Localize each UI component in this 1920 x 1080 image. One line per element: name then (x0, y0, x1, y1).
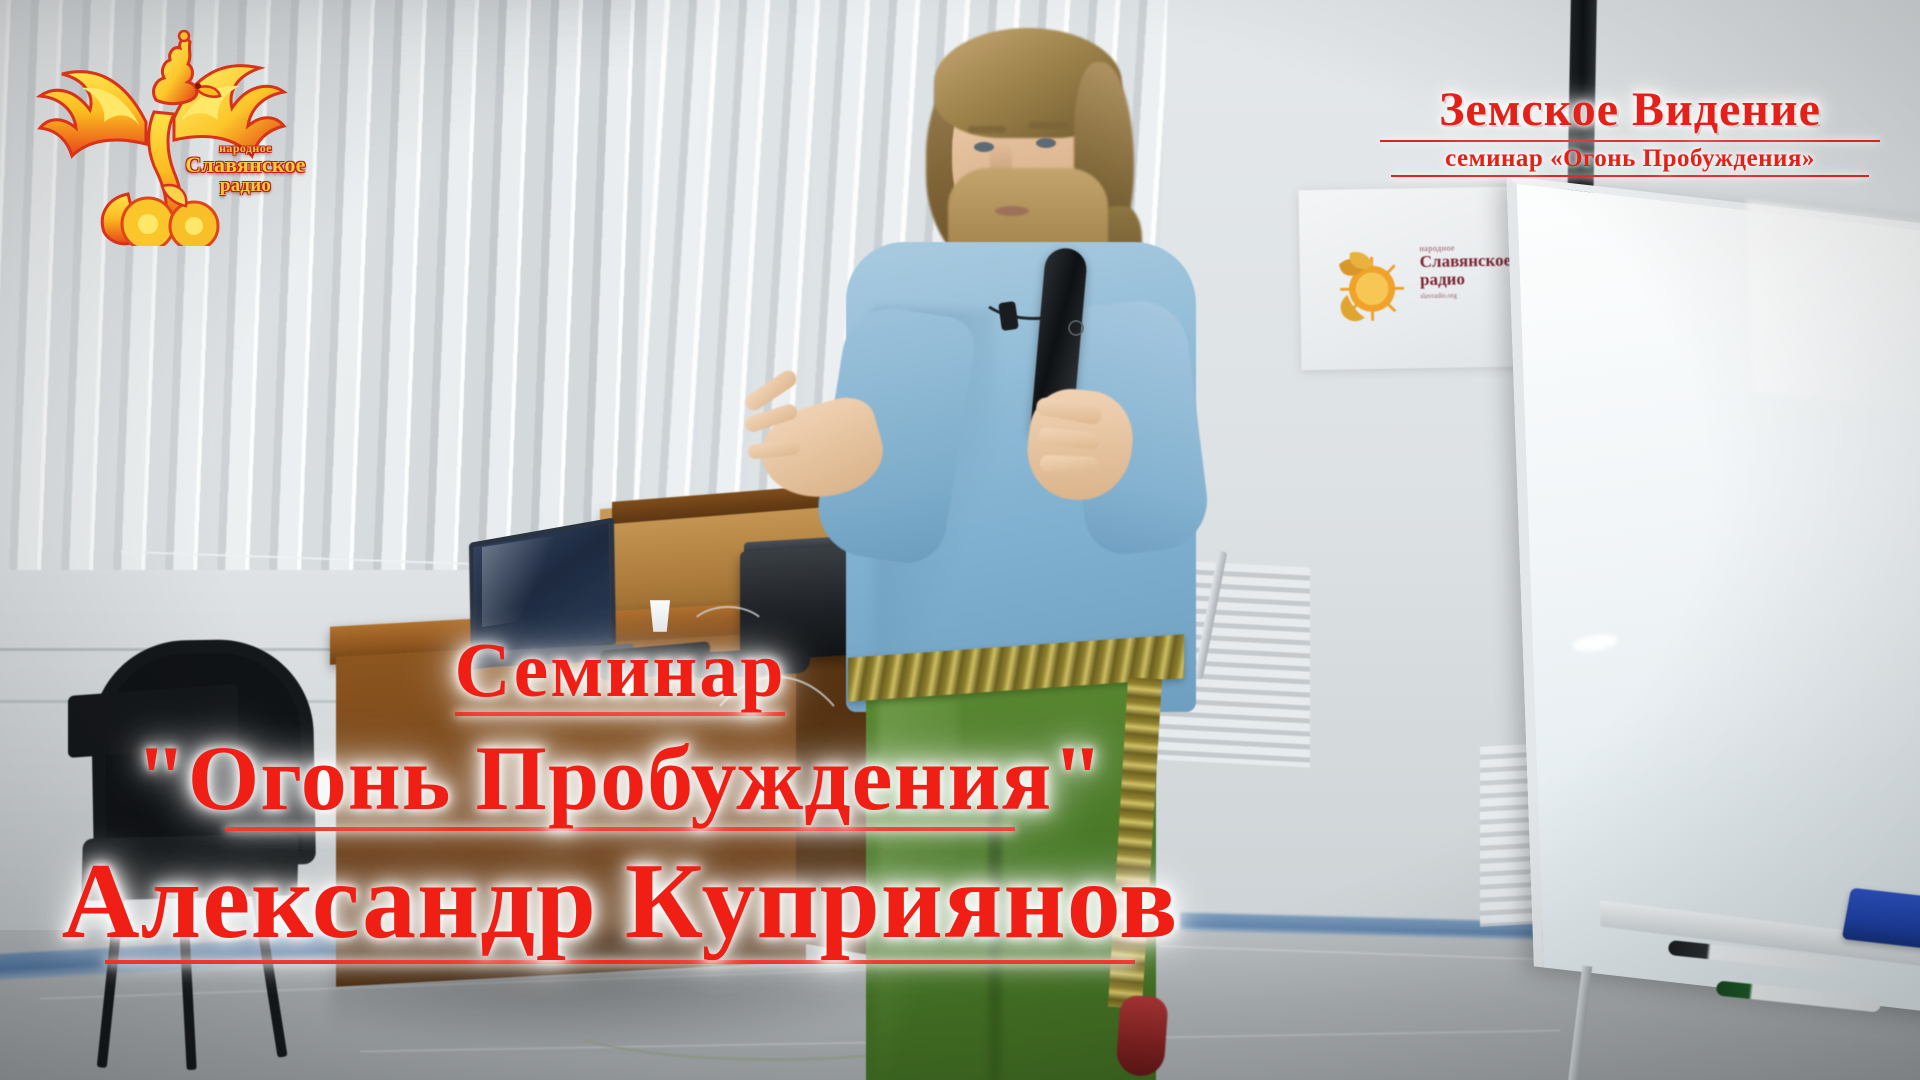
programme-subtitle-underline (1391, 175, 1869, 177)
programme-title-block: Земское Видение семинар «Огонь Пробужден… (1370, 86, 1890, 177)
belt-tassel (1115, 994, 1168, 1077)
lower-title-block: Семинар "Огонь Пробуждения" Александр Ку… (0, 630, 1240, 980)
video-frame: народное Славянское радио slavradio.org (0, 0, 1920, 1080)
sun-firebird-icon (1321, 234, 1419, 332)
lower-title-line-2: "Огонь Пробуждения" (136, 732, 1105, 826)
whiteboard (1520, 205, 1920, 1035)
programme-title-underline (1380, 140, 1879, 142)
programme-title: Земское Видение (1370, 86, 1890, 134)
lower-title-line-1: Семинар (454, 630, 785, 710)
whiteboard-glare (1747, 201, 1920, 419)
eye-right (1036, 138, 1056, 148)
firebird-phoenix-icon (28, 26, 298, 246)
finger (1040, 455, 1099, 473)
laptop-screen-glare (482, 533, 572, 627)
eyebrow-right (1028, 122, 1068, 129)
logo-line-1: Славянское (178, 154, 313, 176)
logo-line-2: радио (178, 176, 313, 196)
lower-title-line-3: Александр Куприянов (62, 847, 1179, 957)
eyebrow-left (968, 126, 1006, 133)
slavic-radio-logo: народное Славянское радио (28, 26, 298, 246)
programme-subtitle: семинар «Огонь Пробуждения» (1370, 146, 1890, 172)
mouth (995, 206, 1029, 216)
logo-wordmark: народное Славянское радио (178, 142, 313, 196)
